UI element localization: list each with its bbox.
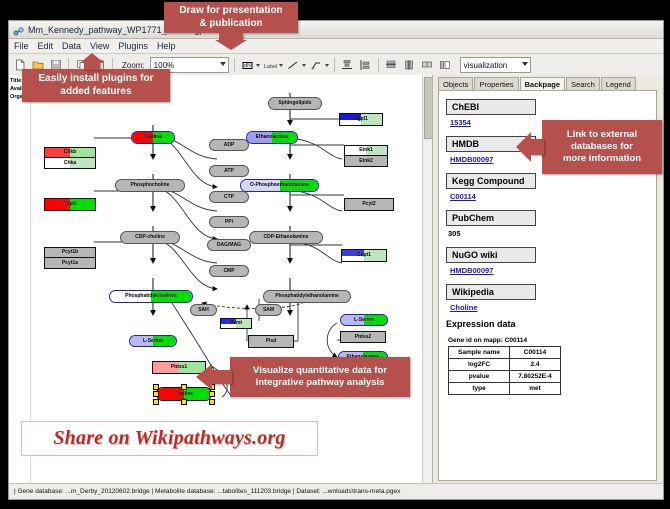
callout-plugins-arrow xyxy=(80,53,104,63)
node-phosphatidylcholines[interactable]: Phosphatidylcholines xyxy=(109,290,193,303)
node-etnk2[interactable]: Etnk2 xyxy=(344,156,388,167)
node-sah[interactable]: SAH xyxy=(190,304,217,316)
db-value-pubchem: 305 xyxy=(448,229,649,238)
node-adp[interactable]: ADP xyxy=(209,139,249,151)
cell-value: C00114 xyxy=(510,347,561,359)
db-header-kegg-compound: Kegg Compound xyxy=(446,173,536,189)
line-icon[interactable] xyxy=(286,58,301,73)
cell-key: pvalue xyxy=(449,371,510,383)
canvas-vertical-scrollbar[interactable] xyxy=(422,75,432,483)
node-ethanolamine[interactable]: Ethanolamine xyxy=(246,131,298,144)
callout-install-plugins: Easily install plugins for added feature… xyxy=(22,69,170,102)
menu-plugins[interactable]: Plugins xyxy=(118,41,148,51)
node-pcyt1a[interactable]: Pcyt1a xyxy=(44,258,96,269)
tab-legend[interactable]: Legend xyxy=(601,77,636,90)
db-header-nugo-wiki: NuGO wiki xyxy=(446,247,536,263)
menu-data[interactable]: Data xyxy=(62,41,81,51)
expression-data-table: Sample name C00114 log2FC 2.4 pvalue 7.8… xyxy=(448,346,561,395)
expression-data-heading: Expression data xyxy=(446,319,649,329)
node-ppi[interactable]: PPi xyxy=(209,216,249,228)
toolbar-separator xyxy=(334,58,335,72)
datanode-tool[interactable]: dN xyxy=(240,58,260,73)
callout-draw-for-publication: Draw for presentation & publication xyxy=(164,2,298,33)
node-pcyt1b[interactable]: Pcyt1b xyxy=(44,247,96,258)
title-bar: Mm_Kennedy_pathway_WP1771_45176.gpml xyxy=(9,21,663,39)
order-icon[interactable] xyxy=(438,58,453,73)
callout-line-1: Easily install plugins for xyxy=(38,73,153,86)
group-icon[interactable] xyxy=(420,58,435,73)
callout-external-links: Link to external databases for more info… xyxy=(542,120,662,174)
size-icon[interactable] xyxy=(402,58,417,73)
db-link-nugo-wiki[interactable]: HMDB00097 xyxy=(450,266,649,275)
table-row: Sample name C00114 xyxy=(449,347,561,359)
resize-handle-nw[interactable] xyxy=(153,384,159,390)
menu-bar[interactable]: File Edit Data View Plugins Help xyxy=(9,39,663,54)
cell-key: log2FC xyxy=(449,359,510,371)
node-cept1[interactable]: Cept1 xyxy=(341,249,387,262)
interaction-icon[interactable] xyxy=(309,58,324,73)
screenshot-root: Mm_Kennedy_pathway_WP1771_45176.gpml Fil… xyxy=(0,0,670,509)
node-cdp-ethanolamine[interactable]: CDP-Ethanolamine xyxy=(249,231,323,244)
node-l-serine-left[interactable]: L-Serine xyxy=(129,335,177,347)
callout-line-2: & publication xyxy=(199,18,262,31)
resize-handle-n[interactable] xyxy=(181,384,187,390)
table-row: pvalue 7.80252E-4 xyxy=(449,371,561,383)
menu-file[interactable]: File xyxy=(14,41,29,51)
chevron-down-icon xyxy=(220,62,226,66)
node-cmp[interactable]: CMP xyxy=(209,265,249,277)
interaction-tool[interactable] xyxy=(309,58,329,73)
visualization-value: visualization xyxy=(464,61,508,70)
table-row: log2FC 2.4 xyxy=(449,359,561,371)
gene-id-on-mapp: Gene id on mapp: C00114 xyxy=(448,337,649,344)
svg-text:Label: Label xyxy=(263,63,277,69)
resize-handle-e[interactable] xyxy=(209,391,215,397)
label-tool[interactable]: Label xyxy=(263,58,283,73)
callout-draw-stem xyxy=(219,33,243,40)
node-ctp[interactable]: CTP xyxy=(209,191,249,203)
node-dag-mag[interactable]: DAG/MAG xyxy=(207,239,251,251)
callout-links-stem xyxy=(530,139,544,155)
callout-line-1: Draw for presentation xyxy=(179,5,282,18)
tab-objects[interactable]: Objects xyxy=(438,77,473,90)
callout-plugins-stem xyxy=(84,62,100,70)
share-banner: Share on Wikipathways.org xyxy=(21,421,318,456)
node-choline[interactable]: Choline xyxy=(131,131,175,144)
db-header-pubchem: PubChem xyxy=(446,210,536,226)
cell-value: 7.80252E-4 xyxy=(510,371,561,383)
node-sgpl1[interactable]: Sgpl1 xyxy=(339,113,383,126)
tab-search[interactable]: Search xyxy=(566,77,600,90)
callout-line-2: integrative pathway analysis xyxy=(256,377,385,389)
resize-handle-se[interactable] xyxy=(209,399,215,405)
node-etnk1[interactable]: Etnk1 xyxy=(344,145,388,156)
resize-handle-w[interactable] xyxy=(153,391,159,397)
chevron-down-icon[interactable] xyxy=(325,64,329,67)
toolbar-separator xyxy=(234,58,235,72)
menu-view[interactable]: View xyxy=(90,41,109,51)
cell-value: 2.4 xyxy=(510,359,561,371)
callout-visualize-data: Visualize quantitative data for integrat… xyxy=(230,357,410,397)
node-chkb[interactable]: Chkb xyxy=(44,147,96,158)
node-pisd[interactable]: Pisd xyxy=(248,335,294,348)
callout-draw-arrow xyxy=(215,40,247,50)
db-link-kegg-compound[interactable]: C00114 xyxy=(450,192,649,201)
scrollbar-thumb[interactable] xyxy=(424,77,433,139)
datanode-icon[interactable]: dN xyxy=(240,58,255,73)
cell-key: Sample name xyxy=(449,347,510,359)
menu-edit[interactable]: Edit xyxy=(38,41,54,51)
callout-line-2: added features xyxy=(60,86,131,99)
callout-visualize-stem xyxy=(212,370,232,384)
chevron-down-icon[interactable] xyxy=(256,64,260,67)
node-phosphatidylethanolamine[interactable]: Phosphatidylethanolamine xyxy=(263,290,351,303)
callout-line-1: Visualize quantitative data for xyxy=(253,365,387,377)
cell-key: type xyxy=(449,383,510,395)
table-row: type met xyxy=(449,383,561,395)
db-header-wikipedia: Wikipedia xyxy=(446,284,536,300)
node-pemt[interactable]: Pemt xyxy=(220,318,252,329)
cell-value: met xyxy=(510,383,561,395)
align-icon[interactable] xyxy=(340,58,355,73)
distribute-icon[interactable] xyxy=(358,58,373,73)
chevron-down-icon[interactable] xyxy=(279,64,283,67)
node-o-phosphoethanolamine[interactable]: O-Phosphoethanolamine xyxy=(240,179,319,192)
toolbar-separator xyxy=(378,58,379,72)
db-header-chebi: ChEBI xyxy=(446,99,536,115)
db-link-wikipedia[interactable]: Choline xyxy=(450,303,649,312)
node-sam[interactable]: SAM xyxy=(255,304,282,316)
resize-handle-sw[interactable] xyxy=(153,399,159,405)
status-bar-text: | Gene database: ...m_Derby_20120602.bri… xyxy=(9,488,400,495)
stack-icon[interactable] xyxy=(384,58,399,73)
node-phosphocholine[interactable]: Phosphocholine xyxy=(115,179,185,192)
callout-line-3: more information xyxy=(563,153,641,165)
node-chpt1[interactable]: Chpt1 xyxy=(44,198,96,211)
side-panel-tabs[interactable]: Objects Properties Backpage Search Legen… xyxy=(433,75,663,90)
callout-line-1: Link to external xyxy=(567,129,637,141)
node-ptdss2[interactable]: Ptdss2 xyxy=(340,331,386,343)
resize-handle-s[interactable] xyxy=(181,399,187,405)
node-cdp-choline[interactable]: CDP-choline xyxy=(120,231,180,244)
visualization-combobox[interactable]: visualization xyxy=(460,57,531,73)
label-icon[interactable]: Label xyxy=(263,58,278,73)
line-tool[interactable] xyxy=(286,58,306,73)
pathvisio-icon xyxy=(13,24,24,35)
callout-links-arrow xyxy=(516,132,531,162)
chevron-down-icon xyxy=(522,62,528,66)
share-banner-text: Share on Wikipathways.org xyxy=(53,427,285,450)
node-sphingolipids[interactable]: Sphingolipids xyxy=(268,97,322,110)
svg-text:dN: dN xyxy=(244,63,251,69)
tab-properties[interactable]: Properties xyxy=(474,77,518,90)
status-bar: | Gene database: ...m_Derby_20120602.bri… xyxy=(9,483,663,499)
chevron-down-icon[interactable] xyxy=(302,64,306,67)
node-atp[interactable]: ATP xyxy=(209,165,249,177)
menu-help[interactable]: Help xyxy=(157,41,176,51)
node-pcyt2[interactable]: Pcyt2 xyxy=(344,198,394,211)
tab-backpage[interactable]: Backpage xyxy=(520,77,565,91)
node-chka[interactable]: Chka xyxy=(44,158,96,169)
callout-visualize-arrow xyxy=(196,364,212,390)
node-l-serine-right[interactable]: L-Serine xyxy=(340,314,388,326)
callout-line-2: databases for xyxy=(571,141,633,153)
